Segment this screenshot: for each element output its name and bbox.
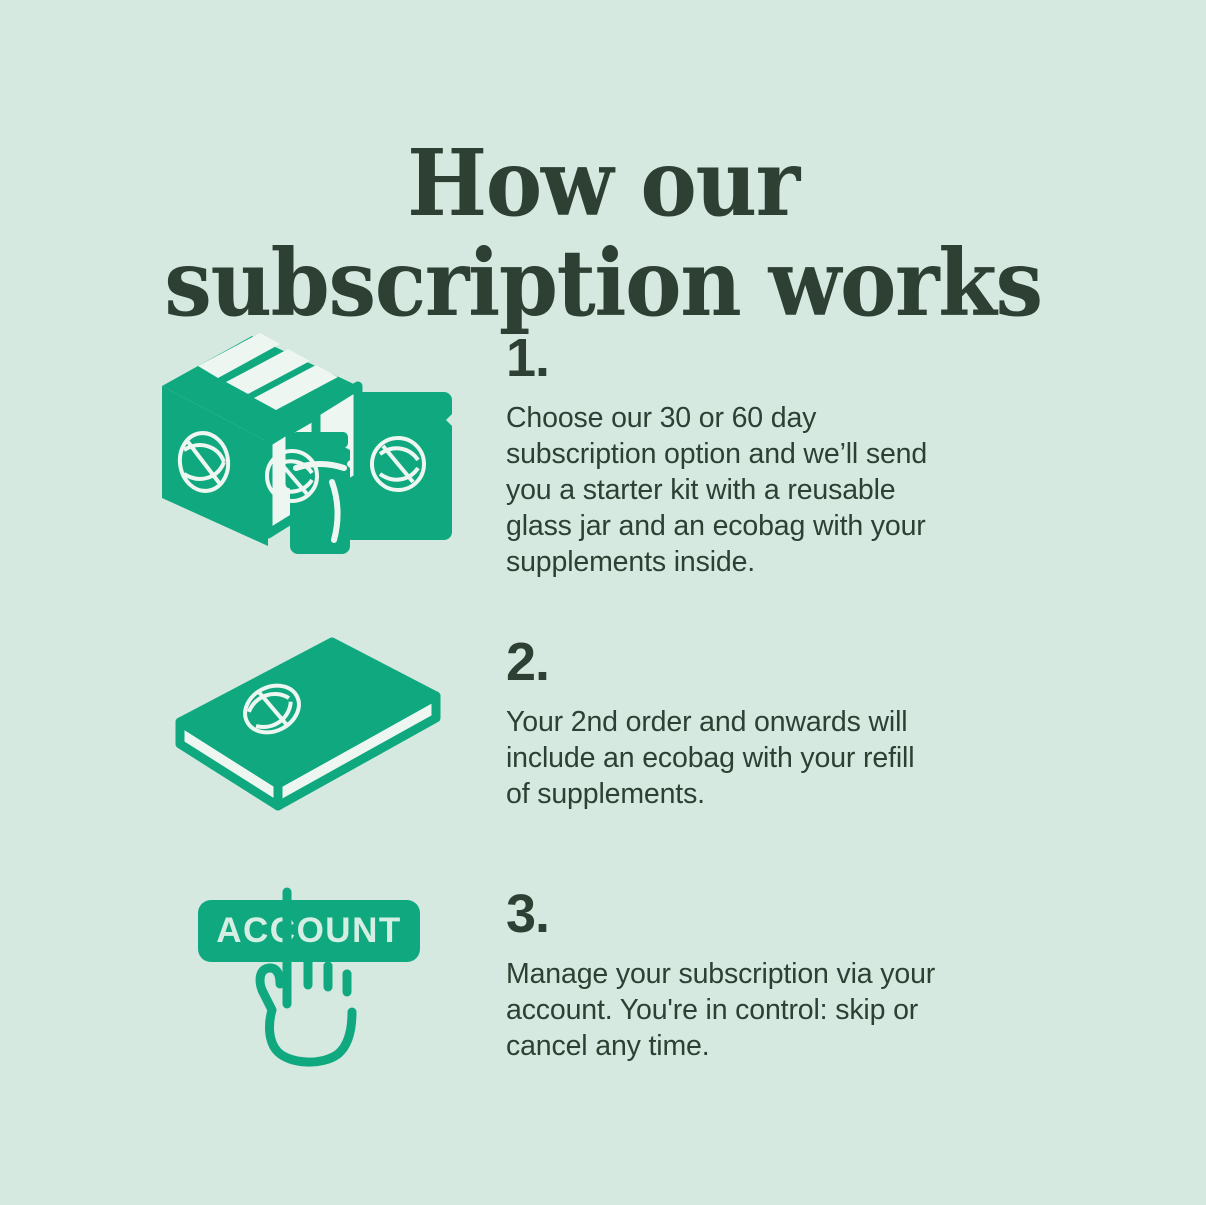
account-button-graphic: ACCOUNT (198, 900, 420, 962)
flat-ecobag-icon (180, 642, 436, 806)
subscription-steps-poster: How our subscription works (0, 0, 1206, 1205)
step-2-body: Your 2nd order and onwards will include … (506, 704, 1066, 812)
flat-ecobag-refill-illustration (168, 634, 518, 874)
account-button-label: ACCOUNT (216, 911, 401, 950)
step-2-number: 2. (506, 634, 1066, 690)
page-title-line-2: subscription works (48, 234, 1158, 332)
step-1-copy: 1. Choose our 30 or 60 day subscription … (506, 330, 1066, 580)
page-title-line-1: How our (48, 134, 1158, 232)
step-3-number: 3. (506, 886, 1066, 942)
shipping-box-jar-pouch-illustration (140, 328, 490, 568)
step-3-copy: 3. Manage your subscription via your acc… (506, 886, 1066, 1064)
step-3-body: Manage your subscription via your accoun… (506, 956, 1066, 1064)
step-2-copy: 2. Your 2nd order and onwards will inclu… (506, 634, 1066, 812)
step-item-1: 1. Choose our 30 or 60 day subscription … (0, 318, 1206, 578)
page-title: How our subscription works (0, 134, 1206, 332)
step-item-3: ACCOUNT (0, 880, 1206, 1140)
step-item-2: 2. Your 2nd order and onwards will inclu… (0, 620, 1206, 880)
step-1-body: Choose our 30 or 60 day subscription opt… (506, 400, 1066, 580)
account-button-hand-cursor-illustration: ACCOUNT (186, 884, 536, 1124)
step-1-number: 1. (506, 330, 1066, 386)
